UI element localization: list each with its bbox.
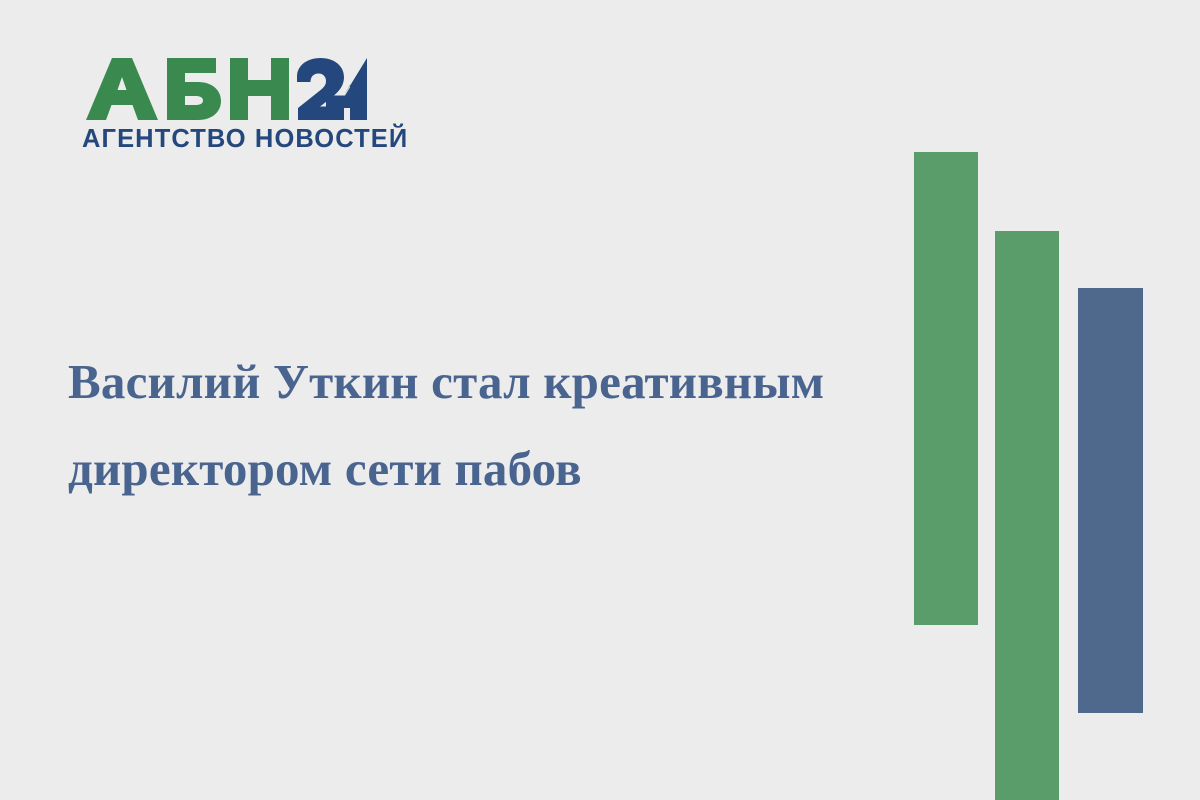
news-card: АГЕНТСТВО НОВОСТЕЙ Василий Уткин стал кр… xyxy=(0,0,1200,800)
logo-tagline: АГЕНТСТВО НОВОСТЕЙ xyxy=(82,127,372,153)
abn24-logo[interactable]: АГЕНТСТВО НОВОСТЕЙ xyxy=(82,58,372,158)
page-title: Василий Уткин стал креативным директором… xyxy=(68,338,868,512)
logo-wordmark-icon xyxy=(82,58,367,120)
decorative-bar-3 xyxy=(1078,288,1143,713)
decorative-bar-1 xyxy=(914,152,978,625)
decorative-bar-2 xyxy=(995,231,1059,800)
